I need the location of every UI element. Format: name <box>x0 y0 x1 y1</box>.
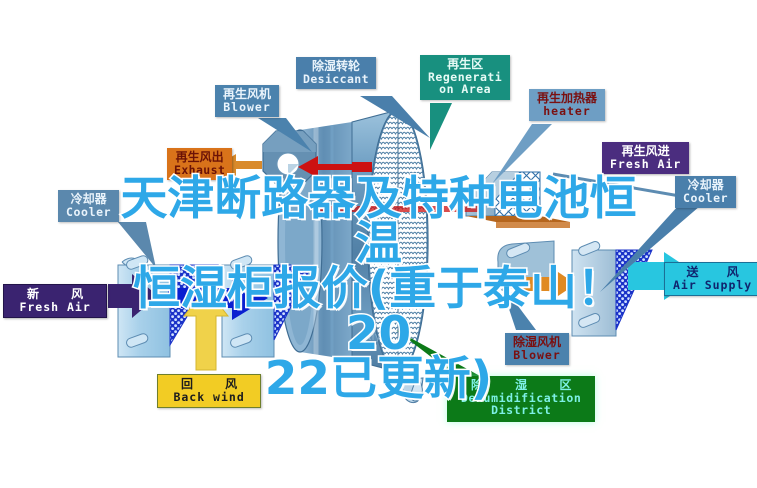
callout-regeneration-area-en2: on Area <box>428 83 502 95</box>
callout-desiccant-cn: 除湿转轮 <box>303 60 369 73</box>
callout-cooler-right-en: Cooler <box>683 192 728 204</box>
callout-fresh-air: 新 风 Fresh Air <box>3 284 107 318</box>
callout-cooler-left-en: Cooler <box>66 206 111 218</box>
callout-exhaust-en: Exhaust <box>174 164 225 176</box>
callout-air-supply-cn: 送 风 <box>673 266 752 279</box>
callout-back-wind: 回 风 Back wind <box>157 374 261 408</box>
svg-text:xiyu: xiyu <box>365 330 388 343</box>
callout-regeneration-blower-en: Blower <box>223 101 271 113</box>
callout-regeneration-fresh-air-cn: 再生风进 <box>610 145 681 158</box>
callout-regeneration-fresh-air: 再生风进 Fresh Air <box>602 142 689 174</box>
callout-desiccant-en: Desiccant <box>303 73 369 85</box>
callout-dehumidification-blower-cn: 除湿风机 <box>513 336 561 349</box>
callout-fresh-air-cn: 新 风 <box>13 288 97 301</box>
regeneration-blower <box>263 131 316 184</box>
callout-heater: 再生加热器 heater <box>529 89 605 121</box>
diagram-canvas: xiyu <box>0 0 757 488</box>
callout-regeneration-fresh-air-en: Fresh Air <box>610 158 681 170</box>
callout-dehumidification-blower: 除湿风机 Blower <box>505 333 569 365</box>
callout-dehumidification-district: 除 湿 区 Dehumidification District <box>447 376 595 422</box>
callout-exhaust-cn: 再生风出 <box>174 151 225 164</box>
callout-back-wind-en: Back wind <box>167 391 251 403</box>
callout-cooler-left: 冷却器 Cooler <box>58 190 119 222</box>
callout-regeneration-blower: 再生风机 Blower <box>215 85 279 117</box>
callout-dehumidification-district-en2: District <box>457 404 585 416</box>
callout-air-supply: 送 风 Air Supply <box>664 262 757 296</box>
callout-back-wind-cn: 回 风 <box>167 378 251 391</box>
callout-heater-cn: 再生加热器 <box>537 92 597 105</box>
callout-regeneration-area: 再生区 Regenerati on Area <box>420 55 510 100</box>
callout-regeneration-area-cn: 再生区 <box>428 58 502 71</box>
callout-cooler-left-cn: 冷却器 <box>66 193 111 206</box>
callout-cooler-right-cn: 冷却器 <box>683 179 728 192</box>
callout-air-supply-en: Air Supply <box>673 279 752 291</box>
regen-seal <box>320 206 480 212</box>
callout-dehumidification-district-cn: 除 湿 区 <box>457 379 585 392</box>
callout-heater-en: heater <box>537 105 597 117</box>
callout-regeneration-blower-cn: 再生风机 <box>223 88 271 101</box>
rotor-segment-detail <box>403 376 423 403</box>
dehumidifier-schematic-svg: xiyu <box>0 0 757 488</box>
callout-dehumidification-blower-en: Blower <box>513 349 561 361</box>
callout-desiccant: 除湿转轮 Desiccant <box>296 57 376 89</box>
callout-fresh-air-en: Fresh Air <box>13 301 97 313</box>
callout-exhaust: 再生风出 Exhaust <box>167 148 232 180</box>
callout-cooler-right: 冷却器 Cooler <box>675 176 736 208</box>
